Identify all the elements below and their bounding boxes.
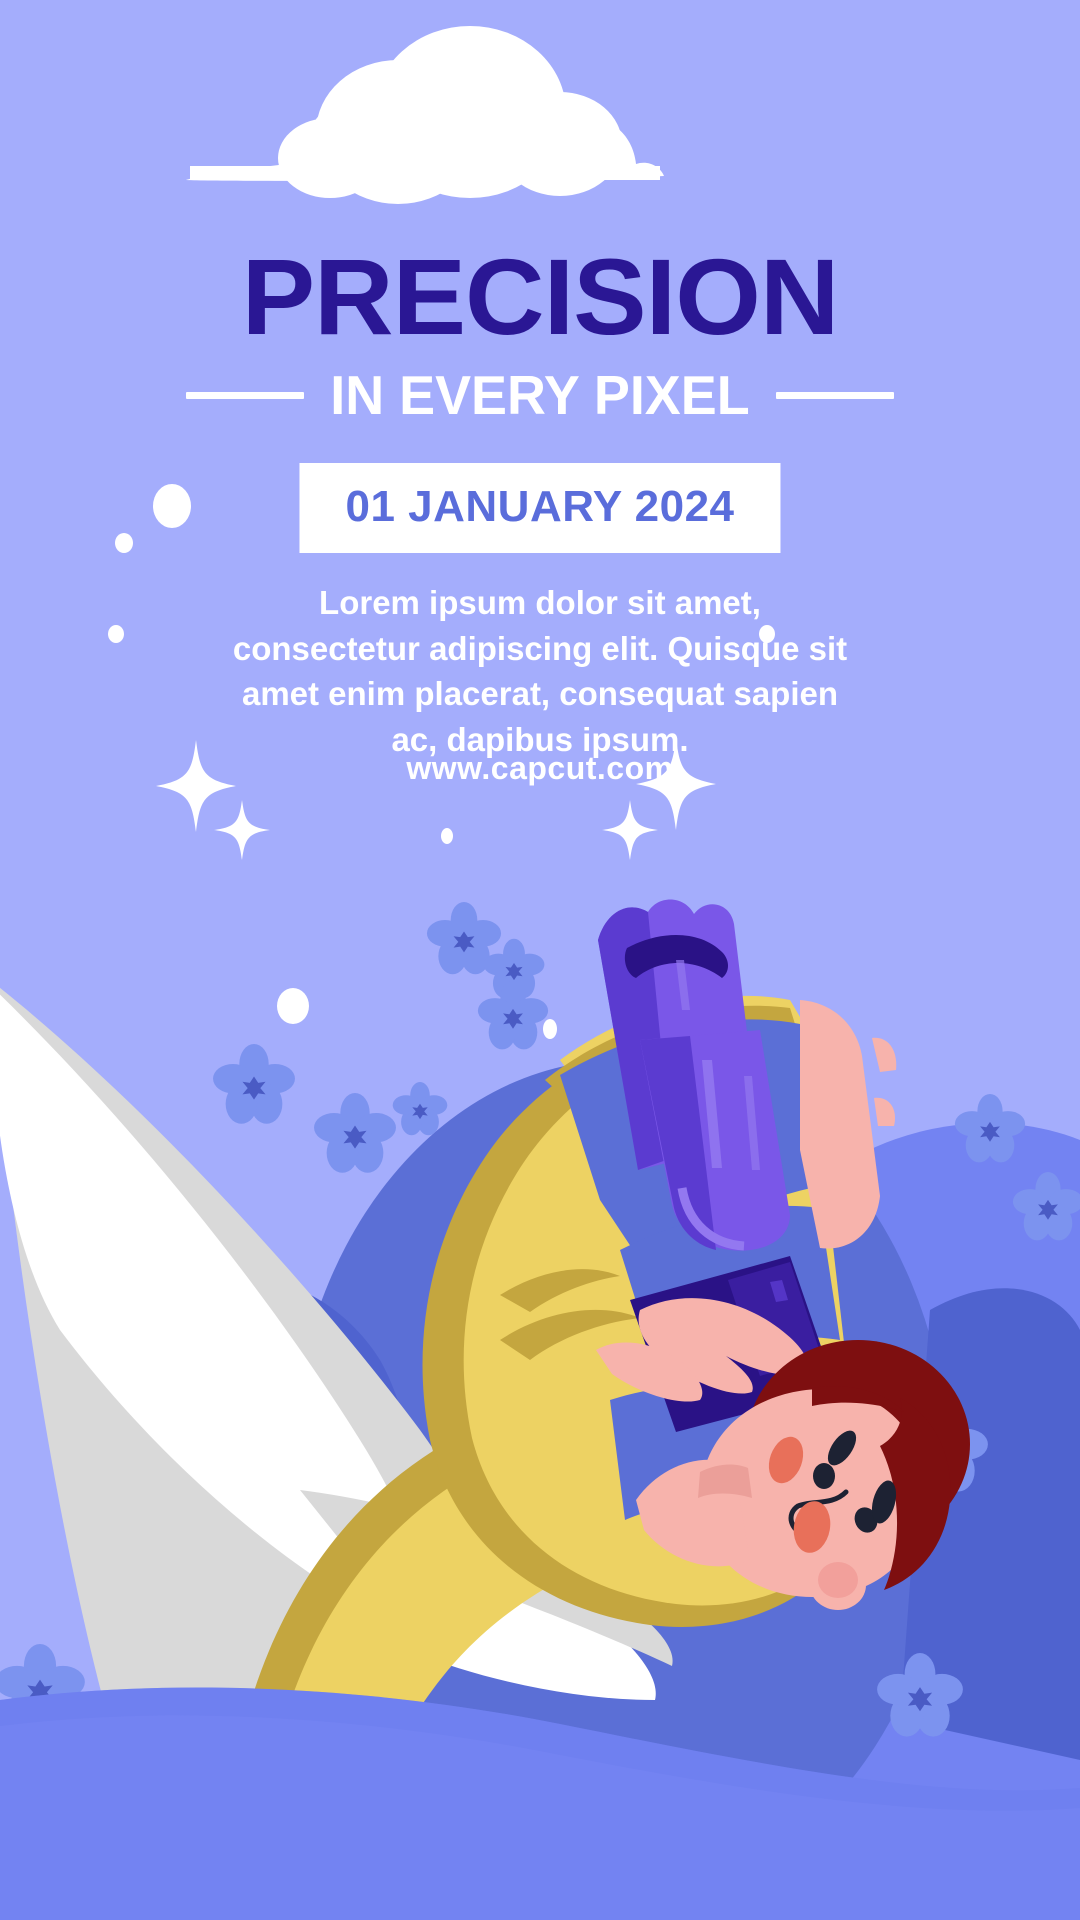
decorative-dot bbox=[277, 988, 309, 1024]
subtitle-row: IN EVERY PIXEL bbox=[0, 368, 1080, 423]
decorative-dot bbox=[153, 484, 191, 528]
page-title: PRECISION bbox=[0, 243, 1080, 351]
decorative-dot bbox=[543, 1019, 557, 1039]
decorative-dot bbox=[441, 828, 453, 844]
date-text: 01 JANUARY 2024 bbox=[345, 482, 734, 531]
eye bbox=[813, 1463, 835, 1489]
body-paragraph: Lorem ipsum dolor sit amet, consectetur … bbox=[230, 580, 850, 762]
decorative-dot bbox=[108, 625, 124, 643]
date-badge: 01 JANUARY 2024 bbox=[299, 463, 780, 553]
subtitle-rule-right bbox=[776, 392, 894, 399]
decorative-dot bbox=[115, 533, 133, 553]
subtitle-rule-left bbox=[186, 392, 304, 399]
poster-canvas: PRECISION IN EVERY PIXEL 01 JANUARY 2024… bbox=[0, 0, 1080, 1920]
website-link[interactable]: www.capcut.com bbox=[0, 750, 1080, 787]
page-subtitle: IN EVERY PIXEL bbox=[330, 368, 749, 423]
